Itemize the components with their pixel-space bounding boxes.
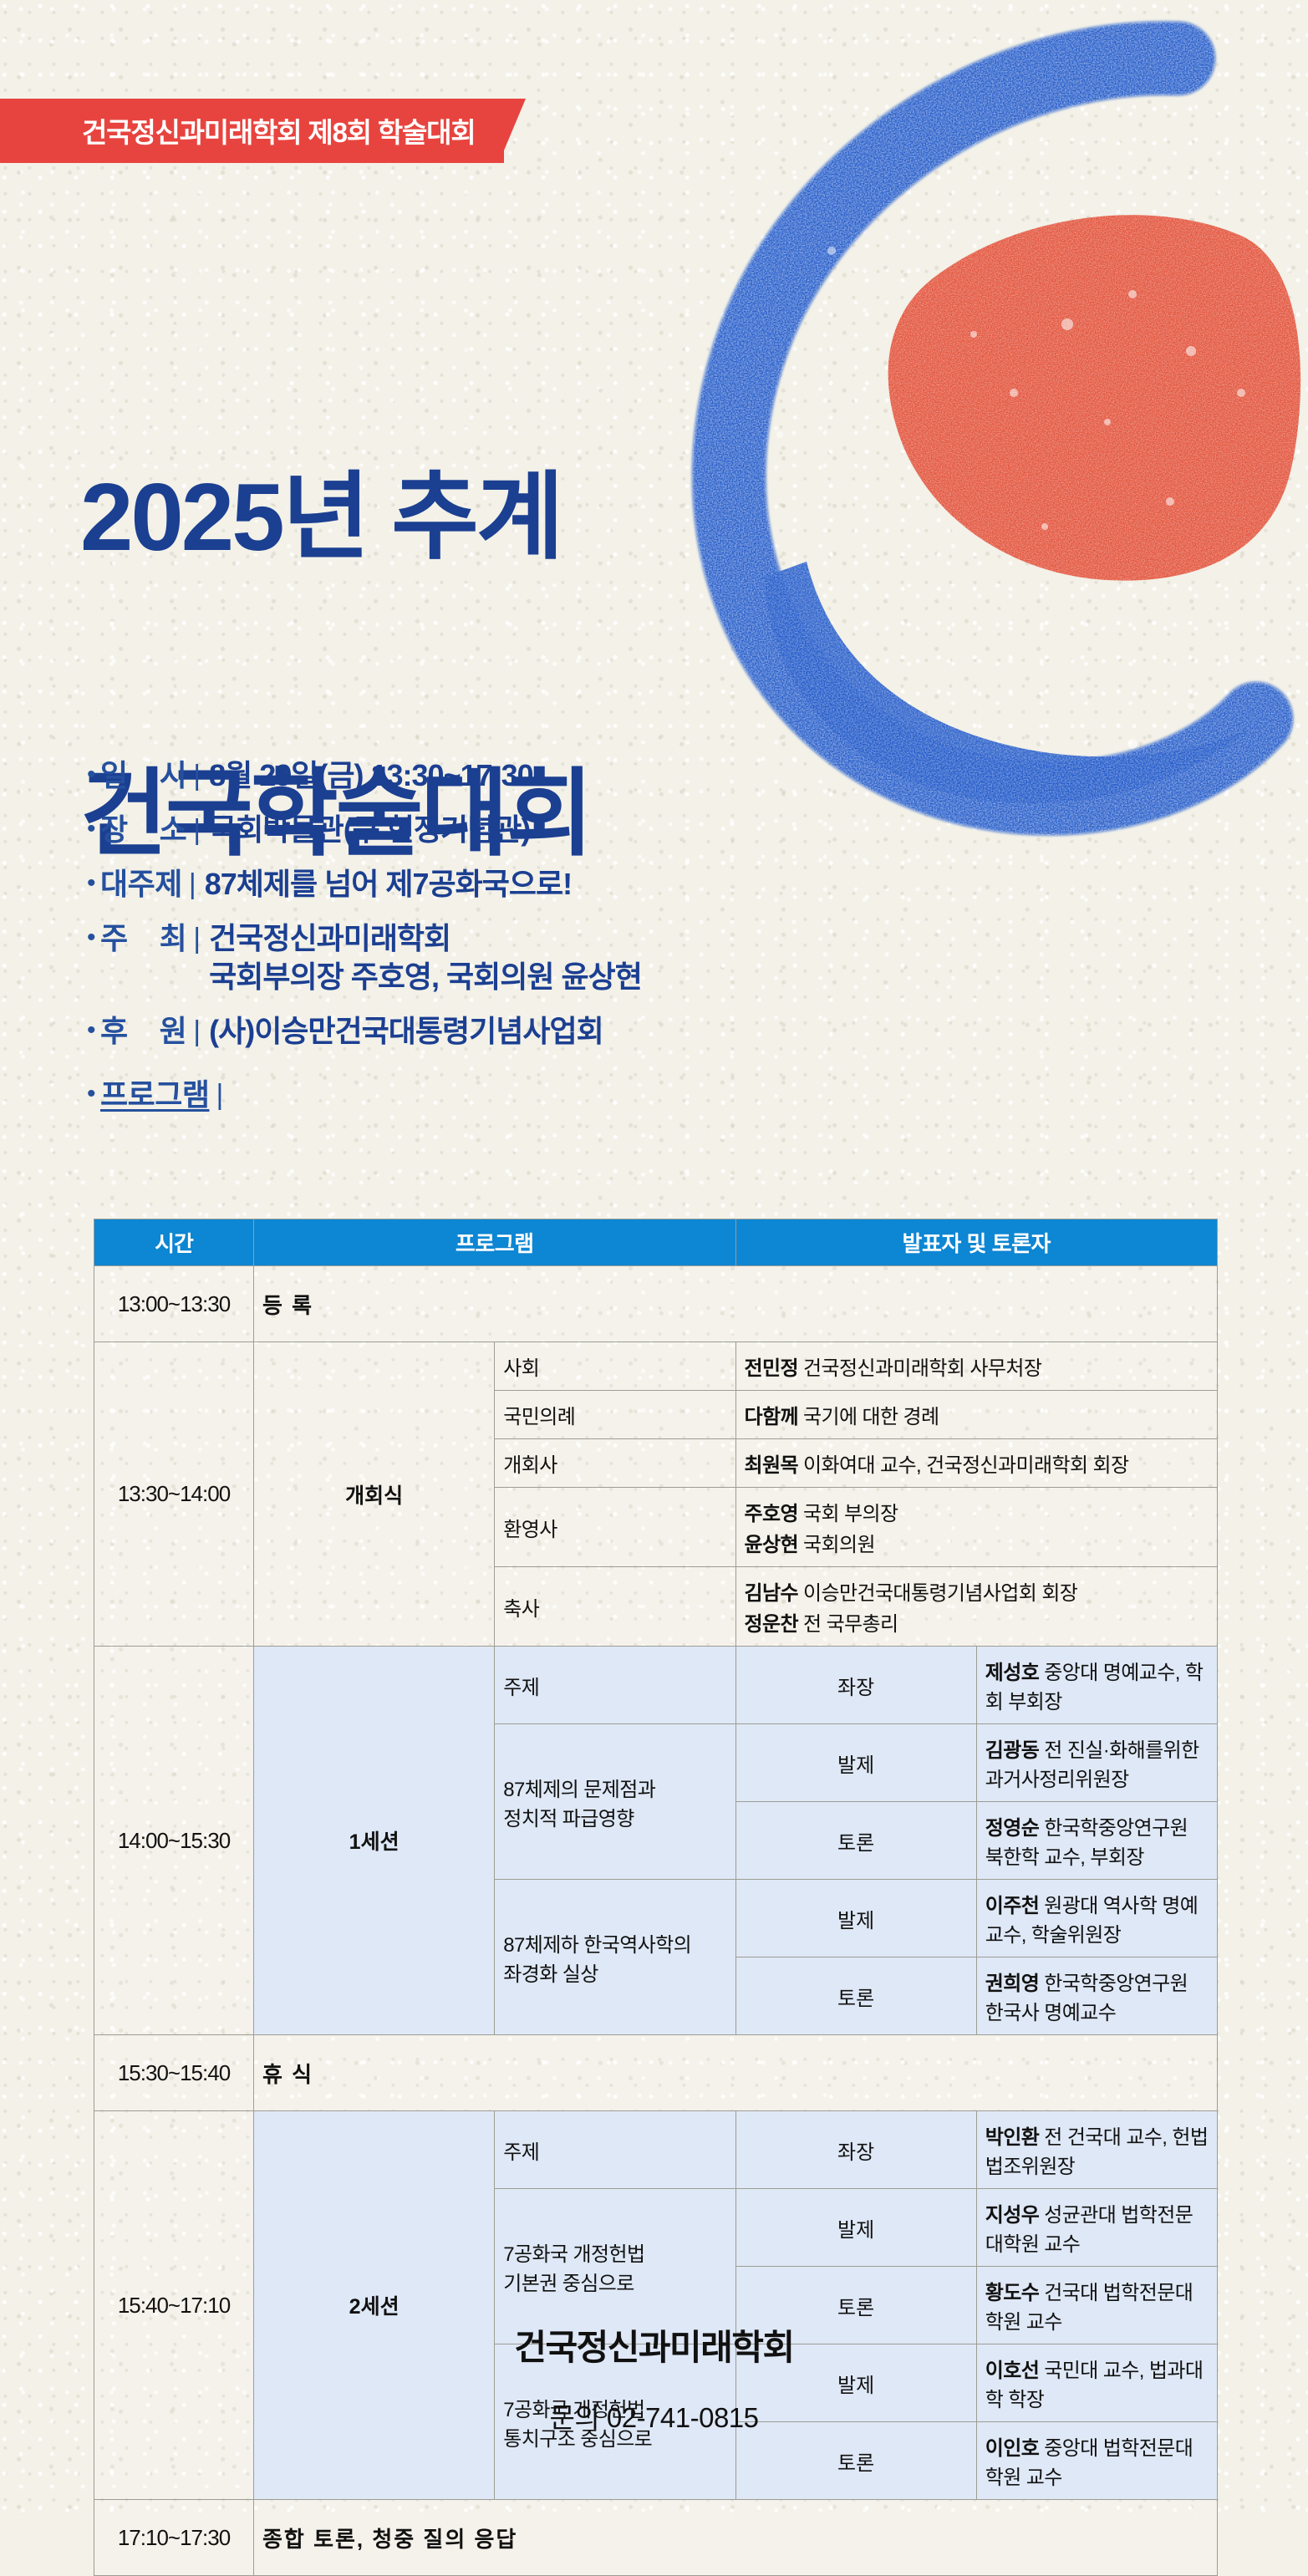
column-header-program: 프로그램 xyxy=(254,1219,736,1266)
cell-speakers: 제성호 중앙대 명예교수, 학회 부회장 xyxy=(976,1647,1217,1724)
table-row: 15:40~17:102세션주제좌장박인환 전 건국대 교수, 헌법법조위원장 xyxy=(94,2111,1218,2189)
speaker-name: 지성우 xyxy=(985,2204,1039,2227)
speaker-name: 최원목 xyxy=(745,1454,798,1477)
info-value-line-2: 국회부의장 주호영, 국회의원 윤상현 xyxy=(209,958,642,996)
title-line-1: 2025년 추계 xyxy=(80,470,591,567)
program-line: 7공화국 개정헌법 xyxy=(503,2237,726,2267)
cell-speakers: 전민정 건국정신과미래학회 사무처장 xyxy=(735,1342,1218,1391)
speaker-line: 다함께 국기에 대한 경례 xyxy=(745,1400,1209,1429)
separator-glyph: | xyxy=(216,1076,223,1114)
speaker-name: 권희영 xyxy=(985,1973,1039,1995)
info-value-line: (사)이승만건국대통령기념사업회 xyxy=(209,1014,603,1048)
info-label: 대주제 xyxy=(100,865,182,904)
table-header-row: 시간 프로그램 발표자 및 토론자 xyxy=(94,1219,1218,1266)
info-value: 국회박물관(구 헌정기념관) xyxy=(209,811,530,849)
cell-program-full: 휴 식 xyxy=(254,2035,1218,2111)
speaker-line: 최원목 이화여대 교수, 건국정신과미래학회 회장 xyxy=(745,1448,1209,1478)
cell-program: 87체제하 한국역사학의좌경화 실상 xyxy=(495,1880,735,2035)
cell-program: 주제 xyxy=(495,1647,735,1724)
separator-glyph: | xyxy=(189,865,196,904)
program-line: 87체제하 한국역사학의 xyxy=(503,1928,726,1957)
speaker-affiliation: 국회 부의장 xyxy=(798,1503,898,1525)
speaker-line: 주호영 국회 부의장 xyxy=(745,1497,1209,1526)
bullet-icon: • xyxy=(87,756,100,793)
speaker-line: 전민정 건국정신과미래학회 사무처장 xyxy=(745,1352,1209,1381)
table-row: 14:00~15:301세션주제좌장제성호 중앙대 명예교수, 학회 부회장 xyxy=(94,1647,1218,1724)
cell-speakers: 권희영 한국학중앙연구원 한국사 명예교수 xyxy=(976,1957,1217,2035)
event-info-list: •일 시|8월 29일(금) 13:30~17:30•장 소|국회박물관(구 헌… xyxy=(87,756,923,1130)
info-label: 장 소 xyxy=(100,811,186,849)
cell-speakers: 김광동 전 진실·화해를위한과거사정리위원장 xyxy=(976,1724,1217,1802)
table-row: 13:30~14:00개회식사회전민정 건국정신과미래학회 사무처장 xyxy=(94,1342,1218,1391)
separator-glyph: | xyxy=(193,919,201,958)
separator-glyph: | xyxy=(193,1012,201,1051)
cell-session: 개회식 xyxy=(254,1342,495,1647)
ribbon-text: 건국정신과미래학회 제8회 학술대회 xyxy=(0,99,504,163)
speaker-name: 이주천 xyxy=(985,1895,1039,1917)
info-row: •후 원|(사)이승만건국대통령기념사업회 xyxy=(87,1012,923,1051)
cell-program: 사회 xyxy=(495,1342,735,1391)
info-value: 건국정신과미래학회국회부의장 주호영, 국회의원 윤상현 xyxy=(209,919,642,996)
cell-role: 토론 xyxy=(735,1802,976,1880)
speaker-line: 권희영 한국학중앙연구원 한국사 명예교수 xyxy=(985,1967,1209,2025)
speaker-affiliation: 건국정신과미래학회 사무처장 xyxy=(798,1357,1041,1380)
table-row: 15:30~15:40휴 식 xyxy=(94,2035,1218,2111)
schedule-table-head: 시간 프로그램 발표자 및 토론자 xyxy=(94,1219,1218,1266)
info-label: 후 원 xyxy=(100,1012,186,1051)
speaker-name: 주호영 xyxy=(745,1503,798,1525)
program-line: 기본권 중심으로 xyxy=(503,2267,726,2296)
program-line: 사회 xyxy=(503,1352,726,1381)
speaker-name: 정운찬 xyxy=(745,1613,798,1636)
program-line: 87체제의 문제점과 xyxy=(503,1773,726,1802)
speaker-line: 정영순 한국학중앙연구원 북한학 교수, 부회장 xyxy=(985,1811,1209,1870)
footer-organization: 건국정신과미래학회 xyxy=(0,2319,1308,2370)
info-row-program: • 프로그램 | xyxy=(87,1076,923,1114)
program-line: 정치적 파급영향 xyxy=(503,1802,726,1831)
speaker-name: 전민정 xyxy=(745,1357,798,1380)
program-line: 축사 xyxy=(503,1592,726,1621)
footer-contact: 문의 02-741-0815 xyxy=(0,2395,1308,2436)
speaker-line: 박인환 전 건국대 교수, 헌법법조위원장 xyxy=(985,2120,1209,2179)
ribbon-banner: 건국정신과미래학회 제8회 학술대회 xyxy=(0,99,504,163)
cell-program-full: 종합 토론, 청중 질의 응답 xyxy=(254,2500,1218,2576)
cell-time: 13:30~14:00 xyxy=(94,1342,254,1647)
info-row: •주 최|건국정신과미래학회국회부의장 주호영, 국회의원 윤상현 xyxy=(87,919,923,996)
program-line: 주제 xyxy=(503,1671,726,1700)
speaker-affiliation: 전 국무총리 xyxy=(798,1613,898,1636)
info-row: •대주제|87체제를 넘어 제7공화국으로! xyxy=(87,865,923,904)
bullet-icon: • xyxy=(87,919,100,956)
column-header-time: 시간 xyxy=(94,1219,254,1266)
cell-role: 좌장 xyxy=(735,1647,976,1724)
speaker-line: 이인호 중앙대 법학전문대학원 교수 xyxy=(985,2431,1209,2490)
bullet-icon: • xyxy=(87,811,100,848)
bullet-icon: • xyxy=(87,1076,100,1112)
cell-time: 13:00~13:30 xyxy=(94,1266,254,1342)
info-value-line: 국회박물관(구 헌정기념관) xyxy=(209,812,530,847)
cell-program: 축사 xyxy=(495,1567,735,1647)
speaker-name: 정영순 xyxy=(985,1817,1039,1840)
cell-time: 17:10~17:30 xyxy=(94,2500,254,2576)
speaker-affiliation: 국회의원 xyxy=(798,1534,875,1556)
speaker-name: 김남수 xyxy=(745,1582,798,1605)
program-line: 개회사 xyxy=(503,1448,726,1478)
info-value-line: 건국정신과미래학회 xyxy=(209,921,450,955)
info-label: 주 최 xyxy=(100,919,186,958)
cell-speakers: 정영순 한국학중앙연구원 북한학 교수, 부회장 xyxy=(976,1802,1217,1880)
speaker-line: 이주천 원광대 역사학 명예교수, 학술위원장 xyxy=(985,1889,1209,1947)
info-value-line: 87체제를 넘어 제7공화국으로! xyxy=(205,867,572,901)
bullet-icon: • xyxy=(87,865,100,902)
speaker-line: 윤상현 국회의원 xyxy=(745,1528,1209,1557)
speaker-line: 지성우 성균관대 법학전문대학원 교수 xyxy=(985,2198,1209,2257)
speaker-line: 김남수 이승만건국대통령기념사업회 회장 xyxy=(745,1576,1209,1606)
speaker-line: 김광동 전 진실·화해를위한과거사정리위원장 xyxy=(985,1733,1209,1792)
cell-speakers: 박인환 전 건국대 교수, 헌법법조위원장 xyxy=(976,2111,1217,2189)
cell-program: 주제 xyxy=(495,2111,735,2189)
program-line: 국민의례 xyxy=(503,1400,726,1429)
taegeuk-brush-artwork xyxy=(556,0,1308,886)
cell-speakers: 김남수 이승만건국대통령기념사업회 회장정운찬 전 국무총리 xyxy=(735,1567,1218,1647)
separator-glyph: | xyxy=(193,756,201,795)
cell-time: 15:30~15:40 xyxy=(94,2035,254,2111)
cell-program: 87체제의 문제점과정치적 파급영향 xyxy=(495,1724,735,1880)
cell-speakers: 최원목 이화여대 교수, 건국정신과미래학회 회장 xyxy=(735,1439,1218,1488)
program-line: 좌경화 실상 xyxy=(503,1957,726,1987)
info-row: •장 소|국회박물관(구 헌정기념관) xyxy=(87,811,923,849)
table-row: 17:10~17:30종합 토론, 청중 질의 응답 xyxy=(94,2500,1218,2576)
speaker-name: 다함께 xyxy=(745,1406,798,1428)
speaker-name: 김광동 xyxy=(985,1739,1039,1762)
speaker-line: 정운찬 전 국무총리 xyxy=(745,1607,1209,1637)
cell-speakers: 다함께 국기에 대한 경례 xyxy=(735,1391,1218,1439)
cell-program: 국민의례 xyxy=(495,1391,735,1439)
speaker-name: 제성호 xyxy=(985,1662,1039,1684)
cell-program: 개회사 xyxy=(495,1439,735,1488)
program-line: 주제 xyxy=(503,2136,726,2165)
cell-speakers: 이주천 원광대 역사학 명예교수, 학술위원장 xyxy=(976,1880,1217,1957)
cell-role: 발제 xyxy=(735,1880,976,1957)
cell-role: 발제 xyxy=(735,1724,976,1802)
info-value: 87체제를 넘어 제7공화국으로! xyxy=(205,865,572,904)
column-header-speakers: 발표자 및 토론자 xyxy=(735,1219,1218,1266)
speaker-affiliation: 이화여대 교수, 건국정신과미래학회 회장 xyxy=(798,1454,1129,1477)
cell-time: 14:00~15:30 xyxy=(94,1647,254,2035)
table-row: 13:00~13:30등 록 xyxy=(94,1266,1218,1342)
cell-role: 좌장 xyxy=(735,2111,976,2189)
speaker-name: 이인호 xyxy=(985,2437,1039,2460)
cell-program-full: 등 록 xyxy=(254,1266,1218,1342)
cell-session: 1세션 xyxy=(254,1647,495,2035)
info-row: •일 시|8월 29일(금) 13:30~17:30 xyxy=(87,756,923,795)
speaker-line: 제성호 중앙대 명예교수, 학회 부회장 xyxy=(985,1656,1209,1714)
footer: 건국정신과미래학회 문의 02-741-0815 xyxy=(0,2319,1308,2436)
cell-session: 2세션 xyxy=(254,2111,495,2500)
cell-speakers: 주호영 국회 부의장윤상현 국회의원 xyxy=(735,1488,1218,1567)
program-line: 환영사 xyxy=(503,1513,726,1542)
speaker-affiliation: 국기에 대한 경례 xyxy=(798,1406,939,1428)
cell-role: 발제 xyxy=(735,2189,976,2267)
bullet-icon: • xyxy=(87,1012,100,1049)
program-label: 프로그램 xyxy=(100,1076,209,1114)
info-value: 8월 29일(금) 13:30~17:30 xyxy=(209,756,533,795)
speaker-name: 황도수 xyxy=(985,2282,1039,2304)
separator-glyph: | xyxy=(193,811,201,849)
info-label: 일 시 xyxy=(100,756,186,795)
cell-speakers: 지성우 성균관대 법학전문대학원 교수 xyxy=(976,2189,1217,2267)
speaker-affiliation: 이승만건국대통령기념사업회 회장 xyxy=(798,1582,1077,1605)
info-value: (사)이승만건국대통령기념사업회 xyxy=(209,1012,603,1051)
speaker-name: 윤상현 xyxy=(745,1534,798,1556)
cell-program: 환영사 xyxy=(495,1488,735,1567)
cell-time: 15:40~17:10 xyxy=(94,2111,254,2500)
cell-role: 토론 xyxy=(735,1957,976,2035)
speaker-name: 박인환 xyxy=(985,2126,1039,2149)
info-value-line: 8월 29일(금) 13:30~17:30 xyxy=(209,758,533,792)
